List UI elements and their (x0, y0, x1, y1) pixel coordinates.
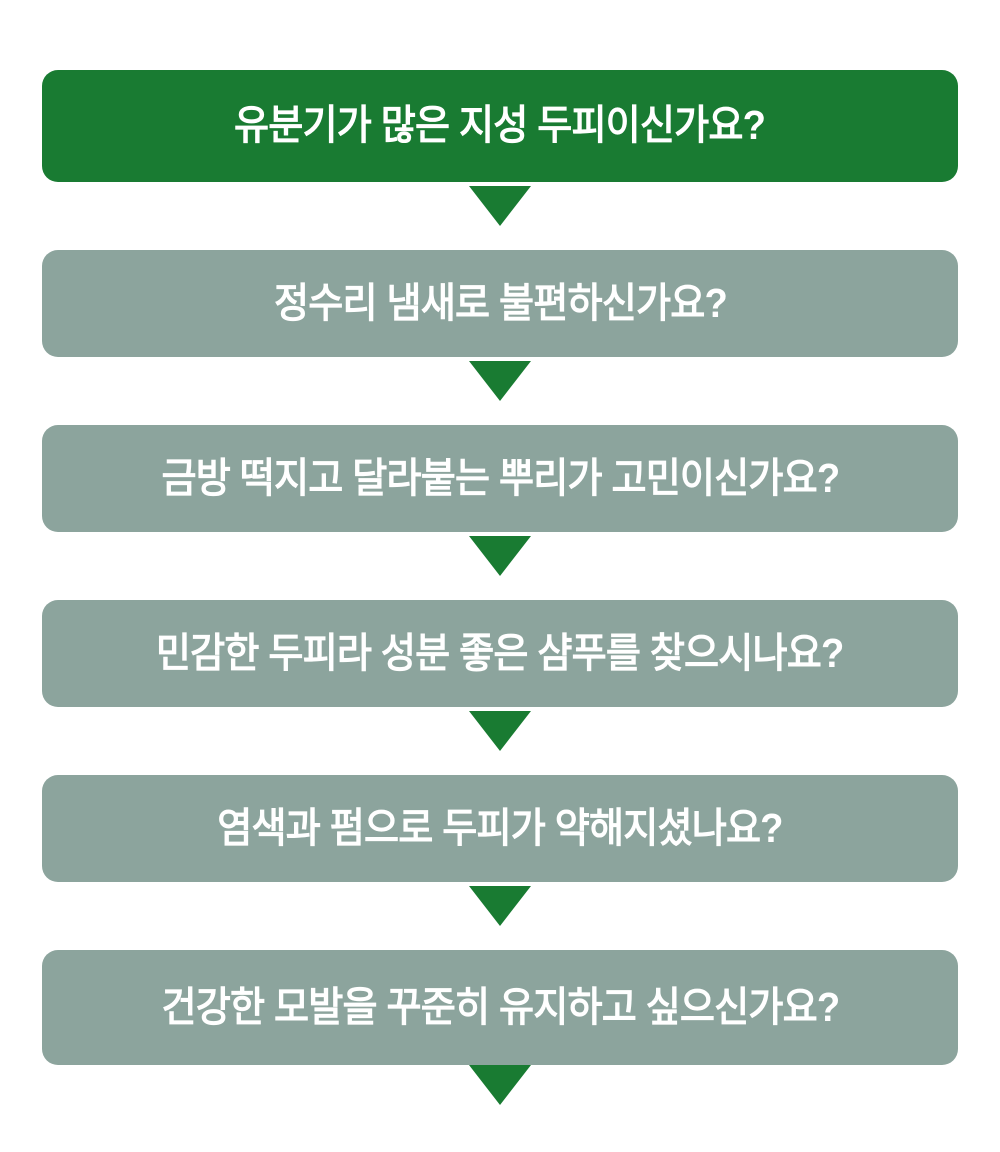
down-arrow-icon-4 (469, 711, 531, 751)
down-arrow-icon-5 (469, 886, 531, 926)
down-arrow-icon-3 (469, 536, 531, 576)
flow-step-label-5: 염색과 펌으로 두피가 약해지셨나요? (217, 807, 782, 850)
down-arrow-icon-6 (469, 1065, 531, 1105)
flow-step-3[interactable]: 금방 떡지고 달라붙는 뿌리가 고민이신가요? (42, 425, 958, 532)
down-arrow-icon-1 (469, 186, 531, 226)
flow-step-label-4: 민감한 두피라 성분 좋은 샴푸를 찾으시나요? (156, 632, 844, 675)
flow-step-5[interactable]: 염색과 펌으로 두피가 약해지셨나요? (42, 775, 958, 882)
flow-step-2[interactable]: 정수리 냄새로 불편하신가요? (42, 250, 958, 357)
down-arrow-icon-2 (469, 361, 531, 401)
flow-step-label-6: 건강한 모발을 꾸준히 유지하고 싶으신가요? (161, 986, 839, 1029)
flow-step-label-3: 금방 떡지고 달라붙는 뿌리가 고민이신가요? (161, 457, 839, 500)
flow-step-6[interactable]: 건강한 모발을 꾸준히 유지하고 싶으신가요? (42, 950, 958, 1065)
flowchart-container: 유분기가 많은 지성 두피이신가요?정수리 냄새로 불편하신가요?금방 떡지고 … (0, 0, 1000, 1152)
flow-step-1[interactable]: 유분기가 많은 지성 두피이신가요? (42, 70, 958, 182)
flow-step-label-1: 유분기가 많은 지성 두피이신가요? (234, 104, 765, 147)
flow-step-label-2: 정수리 냄새로 불편하신가요? (274, 282, 727, 325)
flow-step-4[interactable]: 민감한 두피라 성분 좋은 샴푸를 찾으시나요? (42, 600, 958, 707)
